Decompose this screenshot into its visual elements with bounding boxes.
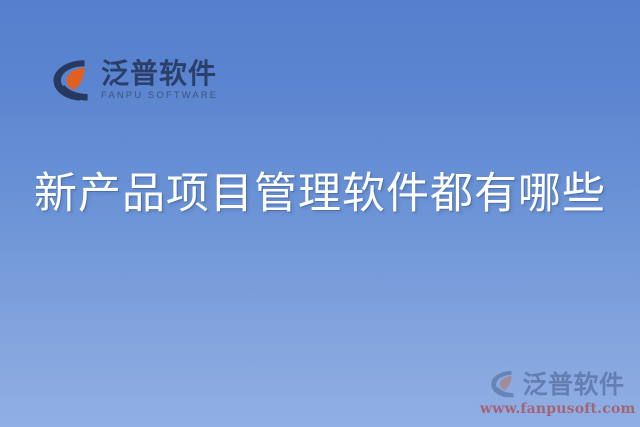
- promo-banner: 泛普软件 FANPU SOFTWARE 新产品项目管理软件都有哪些 泛普软件 w…: [0, 0, 640, 427]
- brand-name-en: FANPU SOFTWARE: [101, 91, 218, 101]
- watermark-logo-row: 泛普软件: [480, 369, 632, 399]
- brand-logo: 泛普软件 FANPU SOFTWARE: [47, 57, 218, 103]
- watermark-url: www.fanpusoft.com: [480, 401, 632, 417]
- page-title: 新产品项目管理软件都有哪些: [0, 168, 640, 222]
- fanpu-logo-mark-icon: [47, 57, 93, 103]
- brand-wordmark: 泛普软件 FANPU SOFTWARE: [101, 59, 218, 101]
- watermark: 泛普软件 www.fanpusoft.com: [480, 369, 632, 417]
- watermark-name-cn: 泛普软件: [522, 372, 624, 397]
- brand-name-cn: 泛普软件: [101, 59, 218, 88]
- fanpu-logo-mark-watermark-icon: [487, 369, 517, 399]
